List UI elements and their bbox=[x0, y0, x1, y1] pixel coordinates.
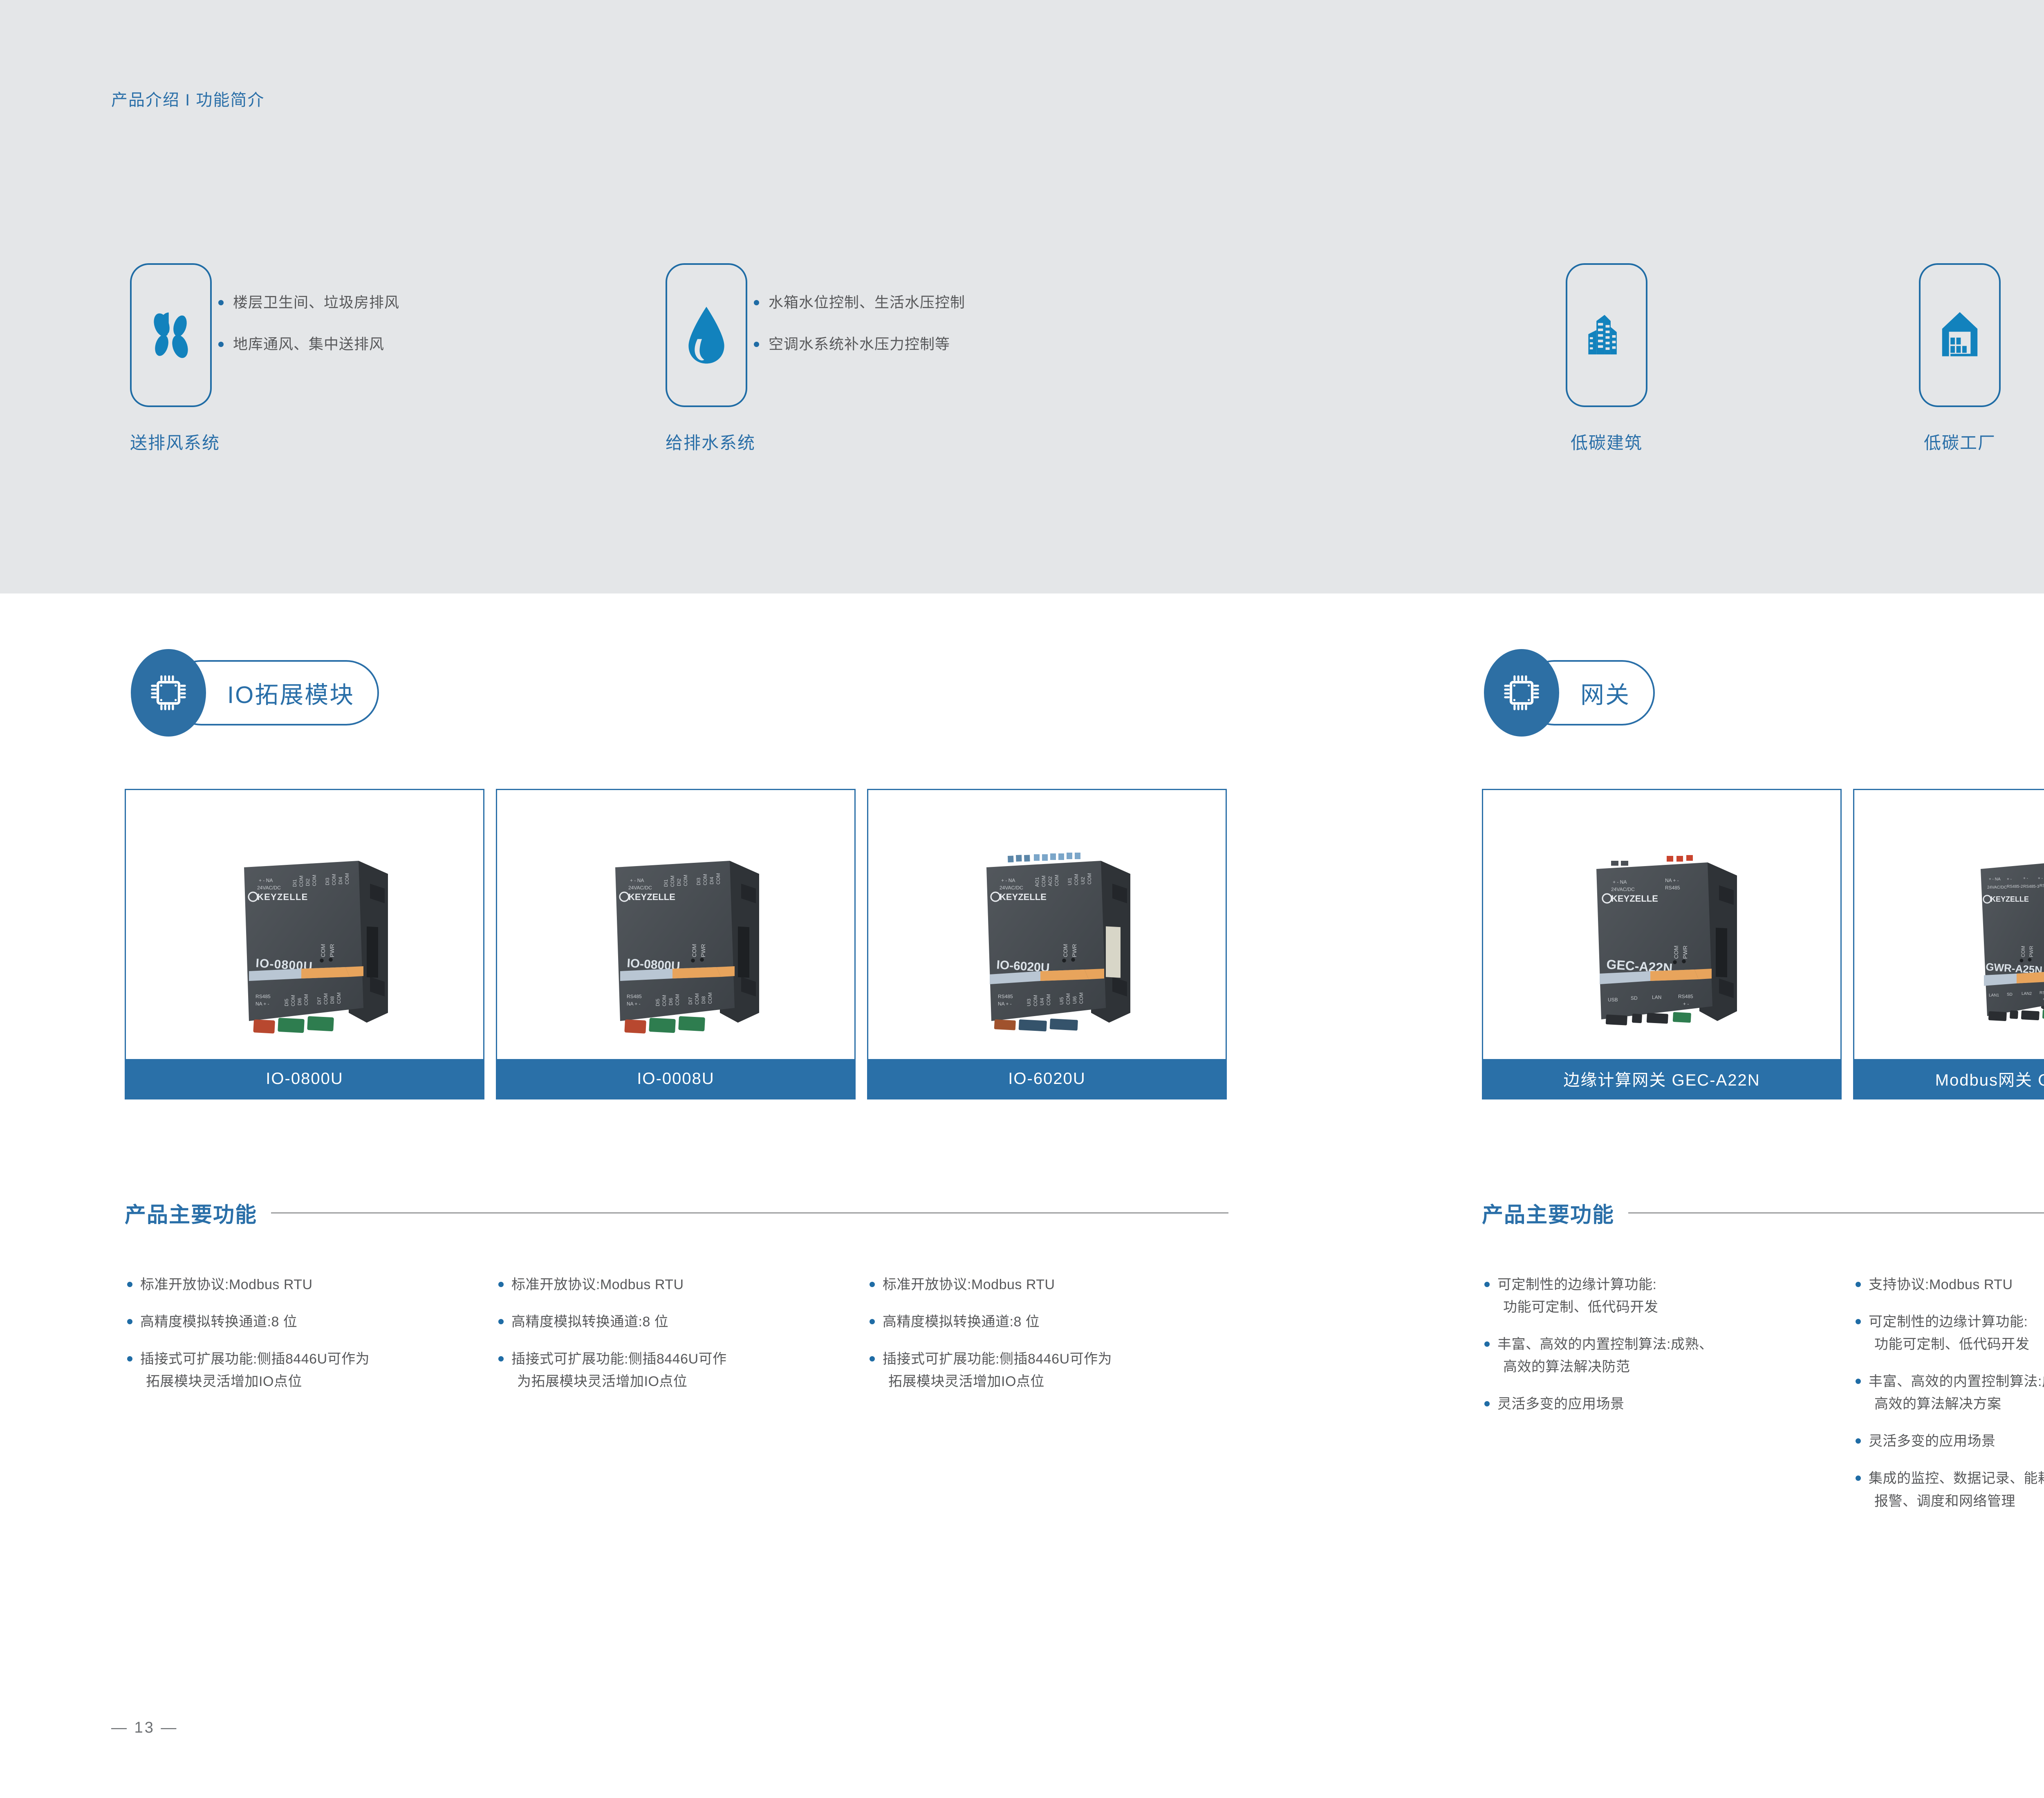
running-head-left: 产品介绍 I 功能简介 bbox=[111, 87, 264, 110]
chip-icon-badge bbox=[131, 649, 206, 737]
list-item: 丰富、高效的内置控制算法:成熟、 高效的算法解决防范 bbox=[1482, 1333, 1833, 1378]
feature-line: 高效的算法解决防范 bbox=[1497, 1356, 1833, 1378]
svg-text:PWR: PWR bbox=[700, 944, 706, 957]
section-title: 网关 bbox=[1580, 676, 1630, 710]
list-item: 集成的监控、数据记录、能耗计量、 报警、调度和网络管理 bbox=[1853, 1467, 2044, 1512]
factory-icon bbox=[1935, 309, 1984, 361]
svg-text:COM: COM bbox=[707, 992, 713, 1004]
svg-text:RS485: RS485 bbox=[998, 994, 1013, 999]
svg-text:COM: COM bbox=[1033, 995, 1038, 1006]
list-item: 灵活多变的应用场景 bbox=[1853, 1430, 2044, 1453]
svg-text:COM: COM bbox=[1054, 875, 1060, 886]
svg-text:AO1: AO1 bbox=[1034, 877, 1040, 887]
product-label: Modbus网关 GWR-A25N bbox=[1854, 1059, 2044, 1098]
product-card[interactable]: + - NA24VAC/DC DI1 COM DI2 COM DI3 COM D… bbox=[125, 789, 484, 1099]
feature-column: 标准开放协议:Modbus RTU 高精度模拟转换通道:8 位 插接式可扩展功能… bbox=[125, 1274, 476, 1408]
application-caption: 送排风系统 bbox=[130, 429, 220, 454]
svg-text:+ -: + - bbox=[2038, 876, 2043, 881]
svg-text:UI5: UI5 bbox=[1059, 997, 1065, 1005]
svg-text:DI8: DI8 bbox=[701, 996, 706, 1004]
svg-text:KEYZELLE: KEYZELLE bbox=[257, 892, 308, 902]
svg-text:COM: COM bbox=[1065, 993, 1071, 1005]
svg-text:AO2: AO2 bbox=[1047, 876, 1053, 886]
feature-line: 插接式可扩展功能:侧插8446U可作为 bbox=[883, 1351, 1112, 1367]
features-heading-gateways: 产品主要功能 bbox=[1482, 1198, 2044, 1228]
svg-text:24VAC/DC: 24VAC/DC bbox=[1611, 887, 1635, 892]
list-item: 插接式可扩展功能:侧插8446U可作为 拓展模块灵活增加IO点位 bbox=[867, 1348, 1219, 1393]
svg-text:NA + -: NA + - bbox=[1665, 878, 1679, 883]
feature-line: 为拓展模块灵活增加IO点位 bbox=[511, 1370, 847, 1393]
svg-text:UI6: UI6 bbox=[1072, 996, 1078, 1004]
svg-text:PWR: PWR bbox=[1071, 944, 1078, 957]
io-module-device-image: + - NA24VAC/DC AO1 COM AO2 COM UI1 COM U… bbox=[916, 838, 1178, 1050]
feature-column: 标准开放协议:Modbus RTU 高精度模拟转换通道:8 位 插接式可扩展功能… bbox=[867, 1274, 1219, 1408]
feature-line: 支持协议:Modbus RTU bbox=[1869, 1277, 2013, 1292]
product-image: + - NA24VAC/DC NA + -RS485 COM PWR USBSD… bbox=[1483, 790, 1840, 1098]
svg-text:24VAC/DC: 24VAC/DC bbox=[1000, 885, 1023, 891]
feature-line: 报警、调度和网络管理 bbox=[1869, 1490, 2044, 1513]
product-label: IO-0800U bbox=[126, 1059, 483, 1098]
svg-text:COM: COM bbox=[298, 875, 304, 887]
svg-text:UI2: UI2 bbox=[1080, 877, 1086, 884]
gateway-device-image: + - NA24VAC/DC NA + -RS485 COM PWR USBSD… bbox=[1531, 838, 1793, 1050]
feature-line: 丰富、高效的内置控制算法:成熟、 bbox=[1869, 1374, 2044, 1389]
io-module-device-image: + - NA24VAC/DC DI1 COM DI2 COM DI3 COM D… bbox=[174, 838, 435, 1050]
product-image: + - NA24VAC/DC DI1 COM DI2 COM DI3 COM D… bbox=[126, 790, 483, 1098]
list-item: 高精度模拟转换通道:8 位 bbox=[125, 1311, 476, 1333]
svg-text:COM: COM bbox=[1087, 873, 1092, 884]
svg-text:COM: COM bbox=[331, 874, 337, 885]
svg-text:DI6: DI6 bbox=[297, 998, 303, 1005]
svg-text:NA + -: NA + - bbox=[627, 1001, 641, 1007]
svg-text:COM: COM bbox=[675, 994, 680, 1005]
product-label: IO-0008U bbox=[497, 1059, 854, 1098]
svg-text:+ - NA: + - NA bbox=[1989, 877, 2001, 882]
scenario-caption: 低碳工厂 bbox=[1919, 429, 2001, 454]
svg-text:COM: COM bbox=[336, 992, 342, 1004]
product-card[interactable]: + - NA24VAC/DC DI1 COM DI2 COM DI3 COM D… bbox=[496, 789, 856, 1099]
list-item: 可定制性的边缘计算功能: 功能可定制、低代码开发 bbox=[1853, 1311, 2044, 1356]
application-block-water: 给排水系统 水箱水位控制、生活水压控制 空调水系统补水压力控制等 bbox=[666, 263, 755, 454]
application-bullet-list: 水箱水位控制、生活水压控制 空调水系统补水压力控制等 bbox=[769, 295, 965, 378]
svg-text:COM: COM bbox=[670, 875, 675, 887]
svg-text:COM: COM bbox=[1673, 945, 1679, 959]
feature-line: 可定制性的边缘计算功能: bbox=[1869, 1314, 2028, 1330]
svg-text:UI3: UI3 bbox=[1026, 999, 1032, 1006]
svg-text:DI3: DI3 bbox=[325, 878, 330, 885]
product-card[interactable]: + - NA + -+ - + - 24VAC/DCRS485-2 RS485-… bbox=[1853, 789, 2044, 1099]
svg-text:COM: COM bbox=[661, 995, 667, 1006]
feature-column: 支持协议:Modbus RTU 可定制性的边缘计算功能: 功能可定制、低代码开发… bbox=[1853, 1274, 2044, 1527]
svg-text:PWR: PWR bbox=[2028, 946, 2034, 957]
water-drop-icon-frame bbox=[666, 263, 747, 407]
feature-line: 集成的监控、数据记录、能耗计量、 bbox=[1869, 1471, 2044, 1486]
list-item: 标准开放协议:Modbus RTU bbox=[867, 1274, 1219, 1296]
section-header-gateways: 网关 bbox=[1484, 649, 1655, 737]
svg-text:NA + -: NA + - bbox=[998, 1001, 1012, 1007]
svg-text:RS485: RS485 bbox=[1665, 885, 1680, 891]
svg-text:DI8: DI8 bbox=[329, 996, 335, 1004]
feature-line: 高精度模拟转换通道:8 位 bbox=[511, 1314, 668, 1330]
svg-text:RS485: RS485 bbox=[255, 994, 271, 999]
svg-text:KEYZELLE: KEYZELLE bbox=[1000, 892, 1047, 902]
product-image: + - NA24VAC/DC AO1 COM AO2 COM UI1 COM U… bbox=[868, 790, 1226, 1098]
svg-text:+ -: + - bbox=[2023, 876, 2028, 881]
svg-text:RS485-3: RS485-3 bbox=[2023, 884, 2040, 889]
feature-line: 高效的算法解决方案 bbox=[1869, 1393, 2044, 1415]
list-item: 楼层卫生间、垃圾房排风 bbox=[233, 295, 399, 310]
svg-text:KEYZELLE: KEYZELLE bbox=[1990, 895, 2029, 903]
svg-text:RS485-4: RS485-4 bbox=[2040, 884, 2044, 888]
svg-text:SD: SD bbox=[2007, 992, 2013, 997]
svg-text:PWR: PWR bbox=[329, 944, 335, 957]
svg-text:COM: COM bbox=[1078, 992, 1084, 1004]
svg-text:DI6: DI6 bbox=[668, 998, 674, 1005]
feature-column: 标准开放协议:Modbus RTU 高精度模拟转换通道:8 位 插接式可扩展功能… bbox=[496, 1274, 847, 1408]
features-heading-title: 产品主要功能 bbox=[125, 1198, 257, 1228]
fan-icon bbox=[144, 308, 198, 362]
svg-text:COM: COM bbox=[320, 944, 326, 957]
svg-text:DI7: DI7 bbox=[316, 997, 322, 1005]
svg-text:+ -: + - bbox=[1683, 1001, 1689, 1007]
list-item: 高精度模拟转换通道:8 位 bbox=[496, 1311, 847, 1333]
svg-text:DI4: DI4 bbox=[709, 877, 715, 884]
svg-text:COM: COM bbox=[323, 993, 329, 1005]
chip-icon-badge bbox=[1484, 649, 1559, 737]
feature-column: 可定制性的边缘计算功能: 功能可定制、低代码开发 丰富、高效的内置控制算法:成熟… bbox=[1482, 1274, 1833, 1430]
section-title: IO拓展模块 bbox=[227, 676, 354, 710]
io-module-device-image: + - NA24VAC/DC DI1 COM DI2 COM DI3 COM D… bbox=[545, 838, 807, 1050]
svg-text:COM: COM bbox=[1062, 944, 1069, 957]
feature-line: 高精度模拟转换通道:8 位 bbox=[883, 1314, 1040, 1330]
application-bullet-list: 楼层卫生间、垃圾房排风 地库通风、集中送排风 bbox=[233, 295, 399, 378]
features-heading-title: 产品主要功能 bbox=[1482, 1198, 1614, 1228]
svg-text:DI4: DI4 bbox=[338, 877, 343, 884]
svg-text:+ - NA: + - NA bbox=[630, 878, 644, 883]
feature-line: 插接式可扩展功能:侧插8446U可作 bbox=[511, 1351, 727, 1367]
svg-text:+ - NA: + - NA bbox=[1613, 879, 1627, 885]
water-drop-icon bbox=[682, 305, 731, 366]
product-label: IO-6020U bbox=[868, 1059, 1226, 1098]
feature-line: 功能可定制、低代码开发 bbox=[1869, 1333, 2044, 1356]
svg-text:24VAC/DC: 24VAC/DC bbox=[1987, 885, 2007, 890]
svg-text:COM: COM bbox=[1074, 874, 1079, 885]
application-caption: 给排水系统 bbox=[666, 429, 755, 454]
page-number-left: — 13 — bbox=[111, 1719, 178, 1737]
list-item: 可定制性的边缘计算功能: 功能可定制、低代码开发 bbox=[1482, 1274, 1833, 1319]
brochure-spread: 产品介绍 I 功能简介 产品介绍 I 功能简介 送排风系统 楼层卫生间、垃圾房排… bbox=[0, 0, 2044, 1798]
heading-rule bbox=[271, 1212, 1228, 1214]
svg-text:+ - NA: + - NA bbox=[259, 878, 273, 883]
list-item: 标准开放协议:Modbus RTU bbox=[125, 1274, 476, 1296]
chip-icon bbox=[1500, 672, 1543, 714]
list-item: 高精度模拟转换通道:8 位 bbox=[867, 1311, 1219, 1333]
svg-text:COM: COM bbox=[344, 873, 350, 884]
product-image: + - NA + -+ - + - 24VAC/DCRS485-2 RS485-… bbox=[1854, 790, 2044, 1098]
list-item: 空调水系统补水压力控制等 bbox=[769, 337, 965, 352]
list-item: 水箱水位控制、生活水压控制 bbox=[769, 295, 965, 310]
svg-text:DI1: DI1 bbox=[292, 879, 298, 887]
svg-text:DI2: DI2 bbox=[305, 878, 311, 886]
fan-icon-frame bbox=[130, 263, 212, 407]
scenario-block-low-carbon-factory: 低碳工厂 bbox=[1919, 263, 2001, 454]
feature-line: 标准开放协议:Modbus RTU bbox=[140, 1277, 313, 1292]
heading-rule bbox=[1628, 1212, 2044, 1214]
feature-line: 可定制性的边缘计算功能: bbox=[1497, 1277, 1656, 1292]
svg-text:DI2: DI2 bbox=[676, 878, 682, 886]
svg-text:SD: SD bbox=[1631, 995, 1638, 1001]
feature-line: 灵活多变的应用场景 bbox=[1497, 1396, 1625, 1412]
application-block-ventilation: 送排风系统 楼层卫生间、垃圾房排风 地库通风、集中送排风 bbox=[130, 263, 220, 454]
svg-text:+ -: + - bbox=[2007, 877, 2012, 882]
svg-text:COM: COM bbox=[691, 944, 697, 957]
svg-text:COM: COM bbox=[683, 875, 688, 886]
office-buildings-icon-frame bbox=[1566, 263, 1647, 407]
svg-text:DI1: DI1 bbox=[663, 879, 669, 887]
svg-text:COM: COM bbox=[1041, 875, 1047, 887]
svg-text:DI3: DI3 bbox=[696, 878, 702, 885]
svg-text:DI7: DI7 bbox=[688, 997, 693, 1005]
svg-text:COM: COM bbox=[303, 994, 309, 1005]
svg-text:COM: COM bbox=[715, 873, 721, 884]
svg-text:KEYZELLE: KEYZELLE bbox=[628, 892, 675, 902]
list-item: 灵活多变的应用场景 bbox=[1482, 1393, 1833, 1415]
scenario-caption: 低碳建筑 bbox=[1566, 429, 1647, 454]
svg-text:COM: COM bbox=[290, 995, 296, 1006]
feature-line: 标准开放协议:Modbus RTU bbox=[511, 1277, 684, 1292]
scenario-block-low-carbon-building: 低碳建筑 bbox=[1566, 263, 1647, 454]
section-header-io-modules: IO拓展模块 bbox=[131, 649, 379, 737]
list-item: 丰富、高效的内置控制算法:成熟、 高效的算法解决方案 bbox=[1853, 1370, 2044, 1415]
svg-text:RS485: RS485 bbox=[1678, 994, 1693, 999]
product-card[interactable]: + - NA24VAC/DC NA + -RS485 COM PWR USBSD… bbox=[1482, 789, 1842, 1099]
features-heading-io: 产品主要功能 bbox=[125, 1198, 1228, 1228]
svg-text:COM: COM bbox=[1046, 994, 1051, 1005]
svg-text:LAN1: LAN1 bbox=[1989, 993, 1999, 998]
list-item: 插接式可扩展功能:侧插8446U可作 为拓展模块灵活增加IO点位 bbox=[496, 1348, 847, 1393]
svg-text:+ - NA: + - NA bbox=[1001, 878, 1015, 883]
feature-line: 标准开放协议:Modbus RTU bbox=[883, 1277, 1055, 1292]
list-item: 插接式可扩展功能:侧插8446U可作为 拓展模块灵活增加IO点位 bbox=[125, 1348, 476, 1393]
svg-text:DI5: DI5 bbox=[655, 999, 661, 1006]
feature-line: 灵活多变的应用场景 bbox=[1869, 1433, 1996, 1449]
product-label: 边缘计算网关 GEC-A22N bbox=[1483, 1059, 1840, 1098]
svg-text:UI1: UI1 bbox=[1067, 878, 1073, 885]
svg-text:UI4: UI4 bbox=[1039, 998, 1045, 1005]
product-card[interactable]: + - NA24VAC/DC AO1 COM AO2 COM UI1 COM U… bbox=[867, 789, 1227, 1099]
office-buildings-icon bbox=[1581, 310, 1632, 360]
svg-text:COM: COM bbox=[2020, 946, 2026, 957]
svg-text:LAN2: LAN2 bbox=[2022, 992, 2032, 996]
feature-line: 插接式可扩展功能:侧插8446U可作为 bbox=[140, 1351, 370, 1367]
svg-text:DI5: DI5 bbox=[284, 999, 289, 1006]
feature-line: 高精度模拟转换通道:8 位 bbox=[140, 1314, 297, 1330]
feature-line: 功能可定制、低代码开发 bbox=[1497, 1296, 1833, 1319]
product-image: + - NA24VAC/DC DI1 COM DI2 COM DI3 COM D… bbox=[497, 790, 854, 1098]
feature-line: 拓展模块灵活增加IO点位 bbox=[883, 1370, 1219, 1393]
feature-line: 拓展模块灵活增加IO点位 bbox=[140, 1370, 476, 1393]
svg-text:RS485-1: RS485-1 bbox=[2040, 991, 2044, 995]
svg-text:KEYZELLE: KEYZELLE bbox=[1611, 893, 1658, 904]
svg-text:RS485-2: RS485-2 bbox=[2007, 884, 2023, 889]
svg-text:PWR: PWR bbox=[1682, 945, 1688, 959]
list-item: 标准开放协议:Modbus RTU bbox=[496, 1274, 847, 1296]
svg-text:USB: USB bbox=[1608, 997, 1618, 1003]
feature-line: 丰富、高效的内置控制算法:成熟、 bbox=[1497, 1337, 1713, 1352]
factory-icon-frame bbox=[1919, 263, 2001, 407]
gateway-device-image: + - NA + -+ - + - 24VAC/DCRS485-2 RS485-… bbox=[1902, 838, 2044, 1050]
svg-text:COM: COM bbox=[694, 993, 700, 1005]
svg-text:LAN: LAN bbox=[1652, 994, 1661, 1000]
svg-text:24VAC/DC: 24VAC/DC bbox=[628, 885, 652, 891]
list-item: 支持协议:Modbus RTU bbox=[1853, 1274, 2044, 1296]
svg-text:COM: COM bbox=[702, 874, 708, 885]
svg-text:COM: COM bbox=[312, 875, 317, 886]
svg-text:24VAC/DC: 24VAC/DC bbox=[257, 885, 281, 891]
chip-icon bbox=[147, 672, 190, 714]
svg-text:RS485: RS485 bbox=[627, 994, 642, 999]
list-item: 地库通风、集中送排风 bbox=[233, 337, 399, 352]
svg-text:NA + -: NA + - bbox=[255, 1001, 269, 1007]
